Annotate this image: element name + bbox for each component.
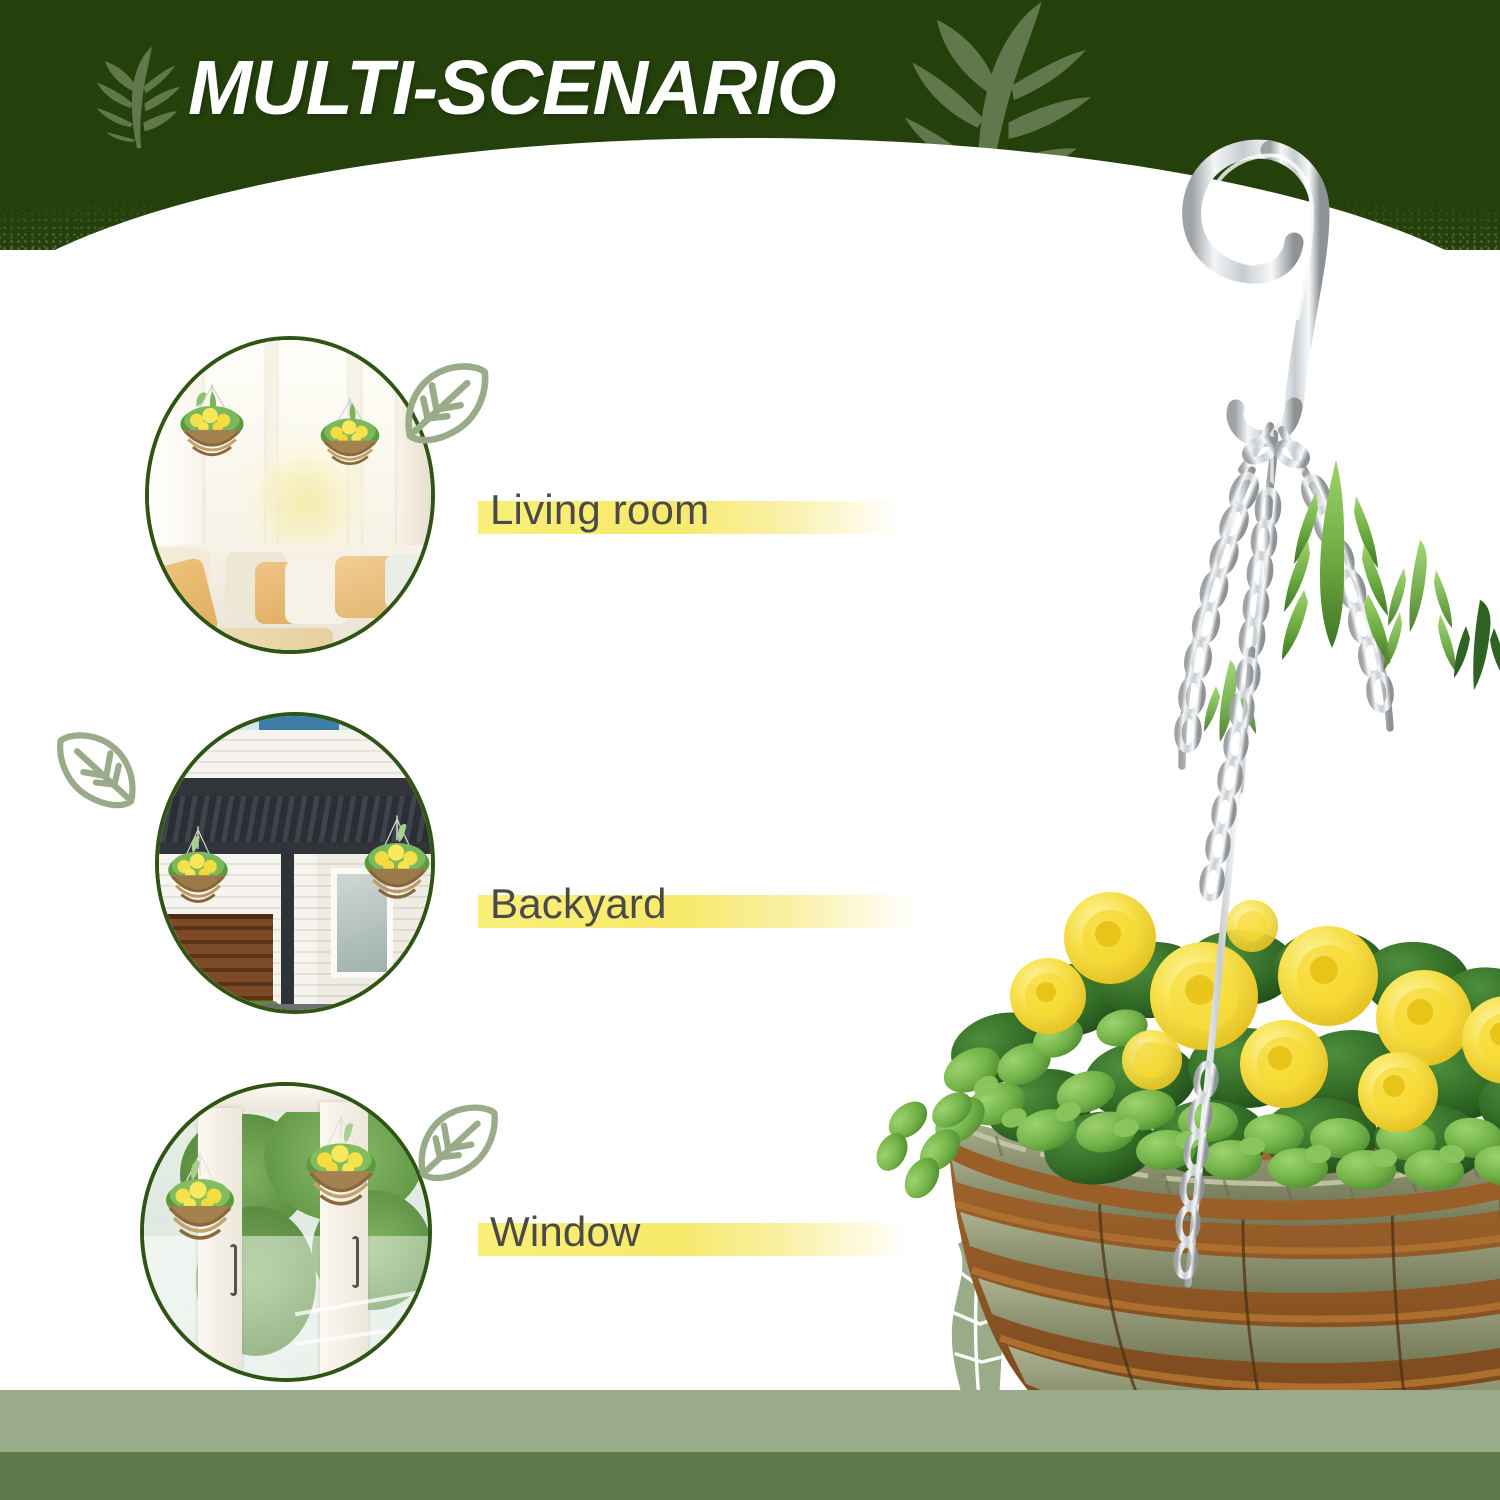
leaf-outline-icon (402, 1090, 507, 1195)
footer-band-light (0, 1390, 1500, 1452)
scene-label-text: Living room (490, 486, 709, 534)
backyard-photo[interactable] (155, 712, 435, 1014)
window-photo[interactable] (140, 1082, 432, 1382)
footer-band-dark (0, 1452, 1500, 1500)
leaf-outline-icon (388, 348, 498, 458)
page-title: MULTI-SCENARIO (188, 44, 836, 133)
s-hook-icon (1192, 149, 1320, 439)
scene-label-text: Window (490, 1208, 641, 1256)
hanging-flower-basket (800, 120, 1500, 1460)
scene-label-text: Backyard (490, 880, 667, 928)
leaf-outline-icon (48, 718, 152, 822)
